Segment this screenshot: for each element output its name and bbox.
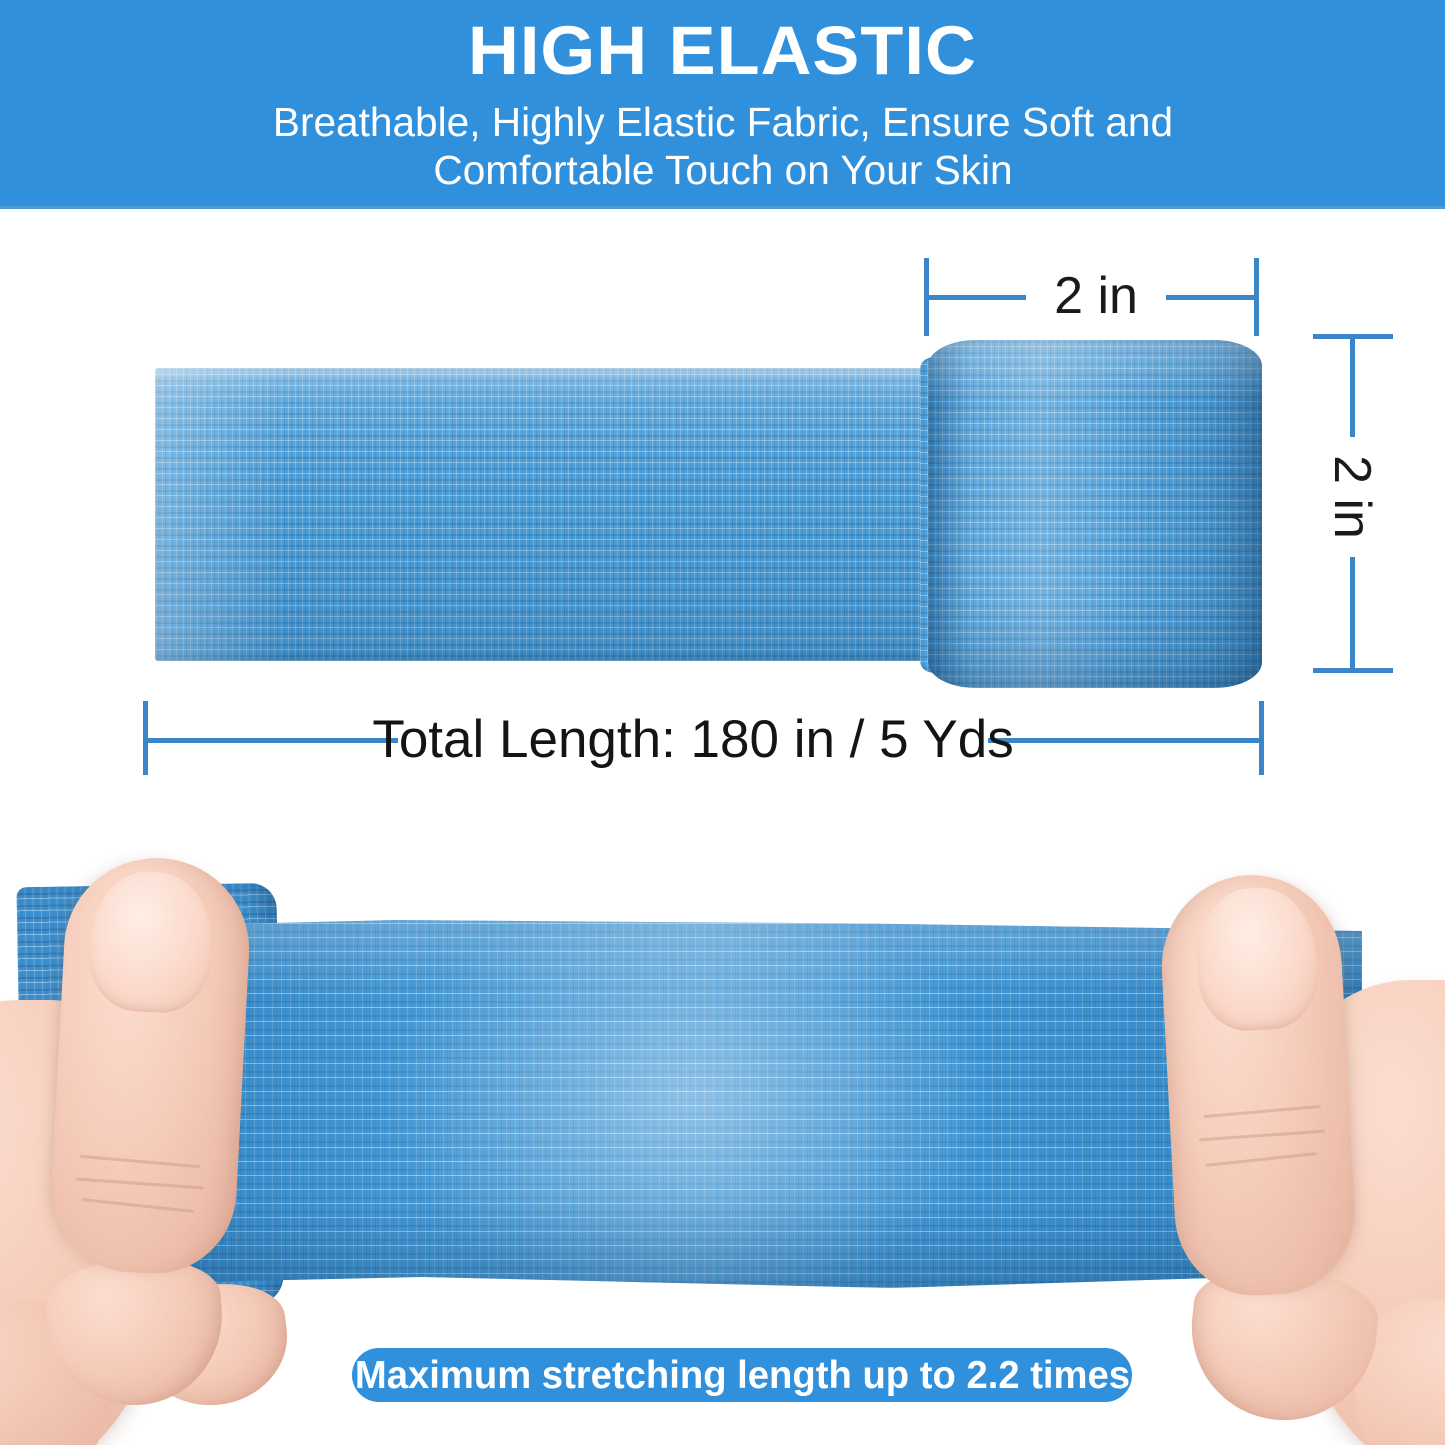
height-dimension-cap-top xyxy=(1313,334,1393,339)
width-dimension-cap-right xyxy=(1254,258,1259,336)
header-subtitle: Breathable, Highly Elastic Fabric, Ensur… xyxy=(168,99,1277,194)
header-subtitle-line-2: Comfortable Touch on Your Skin xyxy=(168,147,1277,195)
width-dimension-cap-left xyxy=(924,258,929,336)
page-title: HIGH ELASTIC xyxy=(468,16,977,85)
right-hand xyxy=(1155,830,1445,1445)
bandage-roll xyxy=(928,340,1262,688)
height-dimension-line-bottom xyxy=(1350,545,1355,672)
bandage-flat-strip xyxy=(155,368,945,661)
length-dimension-cap-right xyxy=(1259,701,1264,775)
height-dimension-line-top xyxy=(1350,338,1355,448)
header-subtitle-line-1: Breathable, Highly Elastic Fabric, Ensur… xyxy=(168,99,1277,147)
stretch-badge: Maximum stretching length up to 2.2 time… xyxy=(352,1348,1132,1402)
height-dimension-label: 2 in xyxy=(1292,437,1412,557)
height-dimension-cap-bottom xyxy=(1313,668,1393,673)
left-hand xyxy=(0,830,290,1445)
header-banner: HIGH ELASTIC Breathable, Highly Elastic … xyxy=(0,0,1445,209)
stretch-badge-label: Maximum stretching length up to 2.2 time… xyxy=(354,1356,1129,1395)
total-length-label: Total Length: 180 in / 5 Yds xyxy=(398,704,988,774)
width-dimension-label: 2 in xyxy=(1026,261,1166,331)
length-dimension-cap-left xyxy=(143,701,148,775)
length-dimension-line-right xyxy=(982,738,1263,743)
